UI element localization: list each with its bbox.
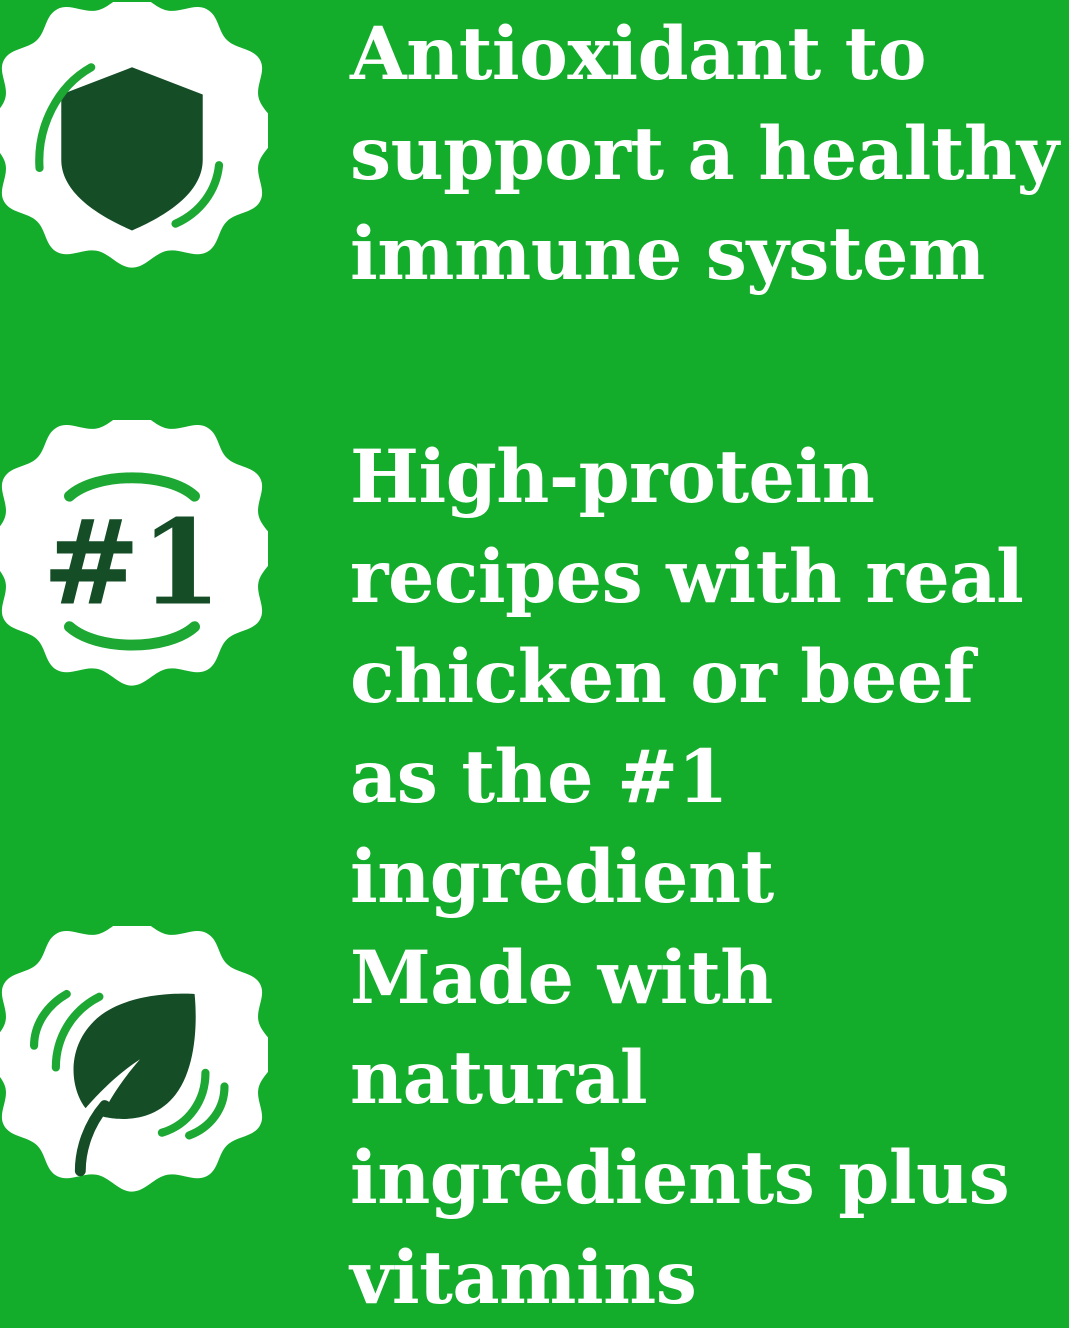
benefit-text: High-protein recipes with real chicken o…: [290, 427, 1069, 927]
shield-badge: [0, 2, 268, 274]
benefit-row: #1 High-protein recipes with real chicke…: [0, 415, 1069, 915]
benefit-row: Made with natural ingredients plus vitam…: [0, 918, 1069, 1194]
number-one-badge-wrap: #1: [0, 415, 290, 692]
shield-badge-wrap: [0, 0, 290, 274]
benefits-panel: Antioxidant to support a healthy immune …: [0, 0, 1069, 1194]
leaf-badge-wrap: [0, 918, 290, 1198]
benefit-row: Antioxidant to support a healthy immune …: [0, 0, 1069, 400]
number-one-badge: #1: [0, 420, 268, 692]
leaf-badge: [0, 926, 268, 1198]
benefit-text: Made with natural ingredients plus vitam…: [290, 928, 1069, 1328]
number-one-icon: #1: [42, 494, 221, 632]
benefit-text: Antioxidant to support a healthy immune …: [290, 4, 1069, 304]
